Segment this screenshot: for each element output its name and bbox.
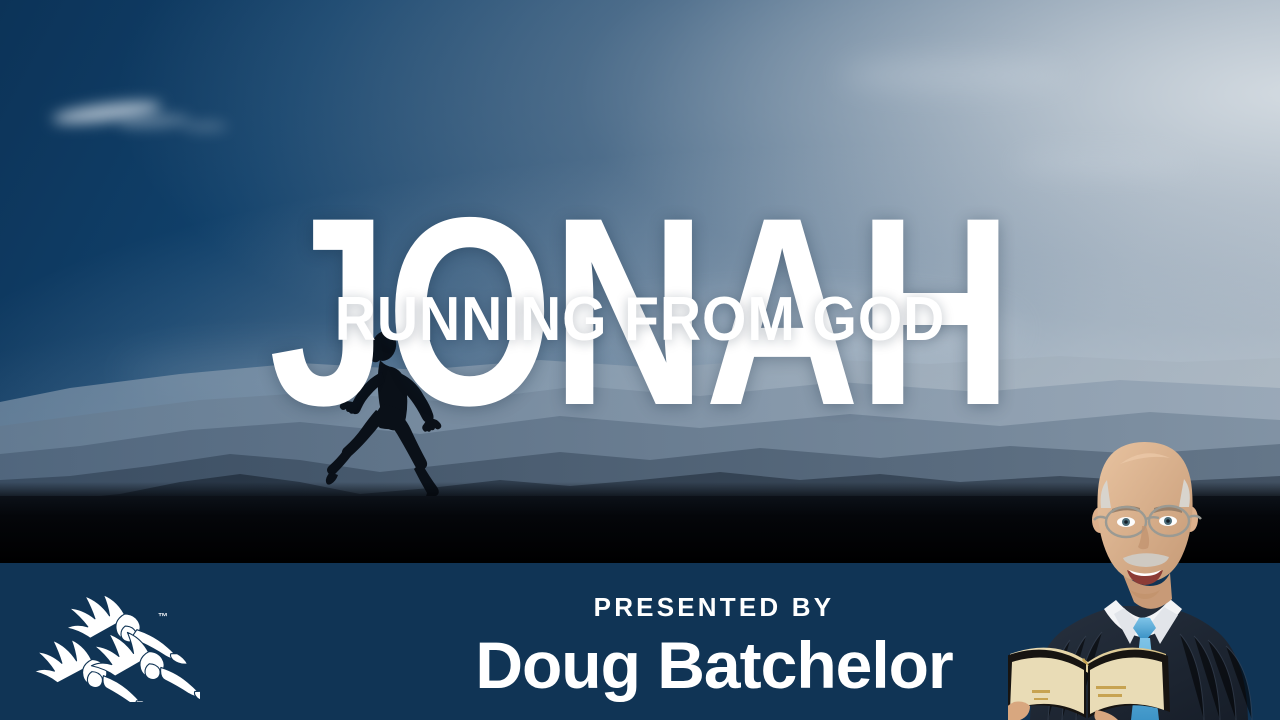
speaker-portrait (1008, 412, 1280, 720)
trademark-symbol: ™ (158, 612, 169, 623)
cloud-wisp (840, 58, 1070, 92)
cloud-wisp (182, 122, 228, 131)
three-angels-logo[interactable] (18, 582, 200, 702)
page-subtitle: RUNNING FROM GOD (51, 289, 1229, 351)
title-card: JONAH RUNNING FROM GOD PRESENTED BY Doug… (0, 0, 1280, 720)
cloud-wisp (1010, 150, 1190, 176)
